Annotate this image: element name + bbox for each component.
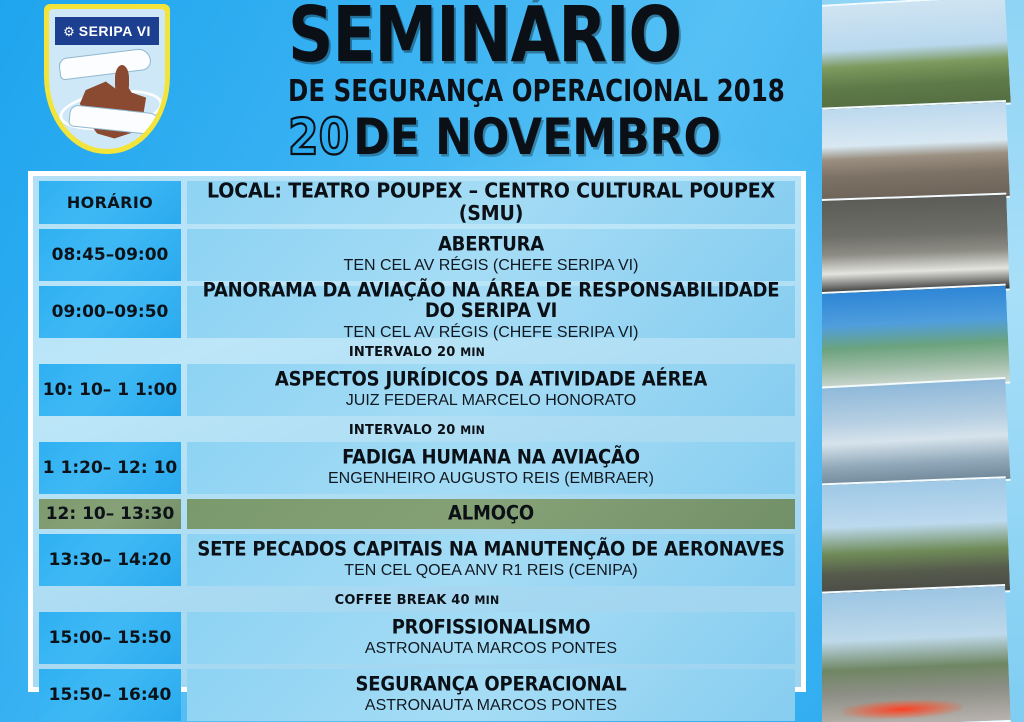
- table-row: 09:00–09:50 PANORAMA DA AVIAÇÃO NA ÁREA …: [39, 286, 795, 338]
- page-title: SEMINÁRIO: [288, 2, 773, 69]
- venue-label: LOCAL: TEATRO POUPEX – CENTRO CULTURAL P…: [193, 181, 789, 224]
- page-subtitle: DE SEGURANÇA OPERACIONAL 2018: [288, 73, 778, 108]
- grey-military-helicopter-photo: [822, 0, 1011, 115]
- table-row: 15:00– 15:50 PROFISSIONALISMO ASTRONAUTA…: [39, 612, 795, 664]
- break-unit: MIN: [460, 345, 485, 359]
- event-date-number: 20: [288, 109, 353, 167]
- table-row: 13:30– 14:20 SETE PECADOS CAPITAIS NA MA…: [39, 534, 795, 586]
- column-header-time: HORÁRIO: [39, 181, 181, 224]
- row-topic: PANORAMA DA AVIAÇÃO NA ÁREA DE RESPONSAB…: [193, 281, 789, 322]
- break-row: COFFEE BREAK 40 MIN: [39, 591, 795, 609]
- break-label: INTERVALO 20: [349, 344, 456, 360]
- crest-artwork: [53, 49, 161, 145]
- row-speaker: TEN CEL AV RÉGIS (CHEFE SERIPA VI): [344, 324, 639, 342]
- row-speaker: JUIZ FEDERAL MARCELO HONORATO: [346, 392, 636, 410]
- row-content: ALMOÇO: [187, 499, 795, 529]
- table-row-lunch: 12: 10– 13:30 ALMOÇO: [39, 499, 795, 529]
- break-row: INTERVALO 20 MIN: [39, 343, 795, 361]
- event-date-rest: DE NOVEMBRO: [353, 109, 721, 167]
- poster-header: SEMINÁRIO DE SEGURANÇA OPERACIONAL 2018 …: [288, 2, 788, 157]
- break-label: COFFEE BREAK 40: [335, 592, 470, 608]
- crest-banner: ⚙ SERIPA VI: [55, 17, 159, 45]
- row-time: 09:00–09:50: [39, 286, 181, 338]
- upper-hand-icon: [58, 47, 152, 80]
- column-header-venue: LOCAL: TEATRO POUPEX – CENTRO CULTURAL P…: [187, 181, 795, 224]
- seripa-vi-crest: ⚙ SERIPA VI: [44, 4, 170, 154]
- seminar-poster: ⚙ SERIPA VI SEMINÁRIO DE SEGURANÇA OPERA…: [0, 0, 1024, 722]
- row-time: 08:45–09:00: [39, 229, 181, 281]
- row-topic: ALMOÇO: [448, 504, 534, 525]
- aircraft-photo-strip: [822, 0, 1024, 722]
- row-topic: ASPECTOS JURÍDICOS DA ATIVIDADE AÉREA: [275, 369, 707, 390]
- break-unit: MIN: [475, 593, 500, 607]
- row-content: PANORAMA DA AVIAÇÃO NA ÁREA DE RESPONSAB…: [187, 286, 795, 338]
- row-content: FADIGA HUMANA NA AVIAÇÃO ENGENHEIRO AUGU…: [187, 442, 795, 494]
- row-time: 15:50– 16:40: [39, 669, 181, 721]
- wing-emblem-icon: ⚙: [63, 25, 75, 38]
- row-content: ASPECTOS JURÍDICOS DA ATIVIDADE AÉREA JU…: [187, 364, 795, 416]
- row-time: 1 1:20– 12: 10: [39, 442, 181, 494]
- white-business-jet-photo: [822, 377, 1011, 491]
- row-speaker: ASTRONAUTA MARCOS PONTES: [365, 640, 617, 658]
- row-time: 13:30– 14:20: [39, 534, 181, 586]
- break-row: INTERVALO 20 MIN: [39, 421, 795, 439]
- table-row: 15:50– 16:40 SEGURANÇA OPERACIONAL ASTRO…: [39, 669, 795, 721]
- crest-banner-label: SERIPA VI: [79, 23, 151, 39]
- row-content: SEGURANÇA OPERACIONAL ASTRONAUTA MARCOS …: [187, 669, 795, 721]
- event-date: 20DE NOVEMBRO: [288, 113, 788, 163]
- yellow-blue-helicopter-ramp-photo: [822, 476, 1010, 599]
- row-content: SETE PECADOS CAPITAIS NA MANUTENÇÃO DE A…: [187, 534, 795, 586]
- row-topic: SEGURANÇA OPERACIONAL: [356, 674, 627, 695]
- row-topic: SETE PECADOS CAPITAIS NA MANUTENÇÃO DE A…: [197, 539, 784, 560]
- yellow-crop-duster-airplane-photo: [822, 100, 1010, 206]
- table-row: 08:45–09:00 ABERTURA TEN CEL AV RÉGIS (C…: [39, 229, 795, 281]
- row-topic: PROFISSIONALISMO: [392, 617, 591, 638]
- crest-field: ⚙ SERIPA VI: [49, 9, 165, 149]
- row-time: 12: 10– 13:30: [39, 499, 181, 529]
- row-speaker: ASTRONAUTA MARCOS PONTES: [365, 697, 617, 715]
- break-label: INTERVALO 20: [349, 422, 456, 438]
- row-time: 10: 10– 1 1:00: [39, 364, 181, 416]
- police-helicopter-hangar-photo: [822, 193, 1010, 298]
- row-topic: ABERTURA: [438, 234, 544, 255]
- row-speaker: TEN CEL QOEA ANV R1 REIS (CENIPA): [344, 562, 637, 580]
- row-speaker: ENGENHEIRO AUGUSTO REIS (EMBRAER): [328, 470, 654, 488]
- row-speaker: TEN CEL AV RÉGIS (CHEFE SERIPA VI): [344, 257, 639, 275]
- row-content: ABERTURA TEN CEL AV RÉGIS (CHEFE SERIPA …: [187, 229, 795, 281]
- king-air-turboprop-photo: [822, 584, 1011, 722]
- blue-helicopter-over-building-photo: [822, 284, 1010, 393]
- table-row: 10: 10– 1 1:00 ASPECTOS JURÍDICOS DA ATI…: [39, 364, 795, 416]
- break-unit: MIN: [460, 423, 485, 437]
- row-content: PROFISSIONALISMO ASTRONAUTA MARCOS PONTE…: [187, 612, 795, 664]
- table-header-row: HORÁRIO LOCAL: TEATRO POUPEX – CENTRO CU…: [39, 181, 795, 224]
- schedule-table: HORÁRIO LOCAL: TEATRO POUPEX – CENTRO CU…: [28, 171, 806, 692]
- row-time: 15:00– 15:50: [39, 612, 181, 664]
- table-row: 1 1:20– 12: 10 FADIGA HUMANA NA AVIAÇÃO …: [39, 442, 795, 494]
- row-topic: FADIGA HUMANA NA AVIAÇÃO: [342, 447, 640, 468]
